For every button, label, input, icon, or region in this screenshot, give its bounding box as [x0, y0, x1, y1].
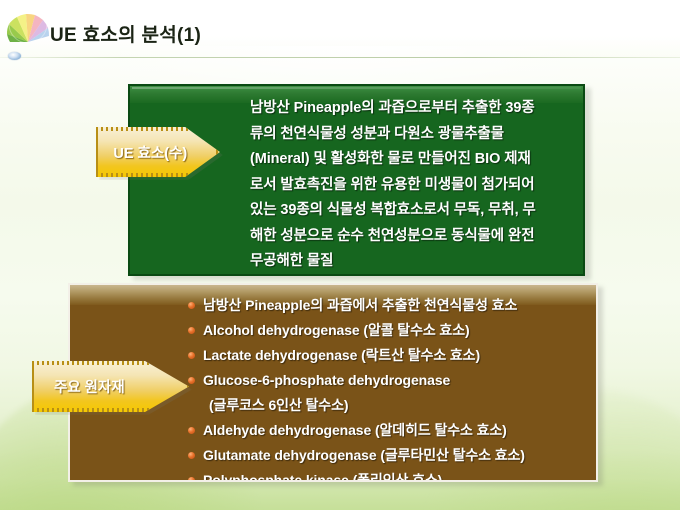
list-item: Glucose-6-phosphate dehydrogenase [188, 368, 586, 393]
header-glow [120, 46, 560, 86]
ue-enzyme-description-panel: 남방산 Pineapple의 과즙으로부터 추출한 39종 류의 천연식물성 성… [128, 84, 585, 276]
green-panel-highlight [132, 87, 581, 89]
list-item: Polyphosphate kinase (폴리인산 효소) [188, 468, 586, 482]
list-item: Glutamate dehydrogenase (글루타민산 탈수소 효소) [188, 443, 586, 468]
list-item-label: 남방산 Pineapple의 과즙에서 추출한 천연식물성 효소 [203, 293, 517, 318]
list-item: Alcohol dehydrogenase (알콜 탈수소 효소) [188, 318, 586, 343]
bullet-dot-icon [188, 352, 195, 359]
list-item-label: Glutamate dehydrogenase (글루타민산 탈수소 효소) [203, 443, 525, 468]
list-item-label: (글루코스 6인산 탈수소) [203, 393, 348, 418]
list-item-label: Polyphosphate kinase (폴리인산 효소) [203, 468, 442, 482]
bullet-dot-icon [188, 427, 195, 434]
page-title: UE 효소의 분석(1) [50, 20, 201, 47]
list-item-continuation: (글루코스 6인산 탈수소) [188, 393, 586, 418]
bullet-dot-icon [188, 327, 195, 334]
ue-enzyme-description-text: 남방산 Pineapple의 과즙으로부터 추출한 39종 류의 천연식물성 성… [250, 96, 565, 275]
list-item: Lactate dehydrogenase (락트산 탈수소 효소) [188, 343, 586, 368]
ue-callout-label: UE 효소(수) [96, 127, 220, 177]
ue-enzyme-callout: UE 효소(수) [96, 127, 220, 177]
list-item-label: Lactate dehydrogenase (락트산 탈수소 효소) [203, 343, 480, 368]
materials-callout-label: 주요 원자재 [32, 361, 189, 412]
color-fan-logo-icon [5, 2, 53, 48]
water-drop-icon [8, 52, 21, 60]
list-item-label: Aldehyde dehydrogenase (알데히드 탈수소 효소) [203, 418, 507, 443]
bullet-dot-icon [188, 302, 195, 309]
bullet-dot-icon [188, 452, 195, 459]
header-divider [0, 57, 680, 58]
list-item-label: Alcohol dehydrogenase (알콜 탈수소 효소) [203, 318, 470, 343]
raw-materials-list: 남방산 Pineapple의 과즙에서 추출한 천연식물성 효소 Alcohol… [188, 293, 586, 482]
raw-materials-callout: 주요 원자재 [32, 361, 189, 412]
bullet-dot-icon [188, 477, 195, 482]
bullet-dot-icon [188, 377, 195, 384]
list-item-label: Glucose-6-phosphate dehydrogenase [203, 368, 450, 393]
slide-canvas: UE 효소의 분석(1) 남방산 Pineapple의 과즙으로부터 추출한 3… [0, 0, 680, 510]
list-item: Aldehyde dehydrogenase (알데히드 탈수소 효소) [188, 418, 586, 443]
list-item: 남방산 Pineapple의 과즙에서 추출한 천연식물성 효소 [188, 293, 586, 318]
